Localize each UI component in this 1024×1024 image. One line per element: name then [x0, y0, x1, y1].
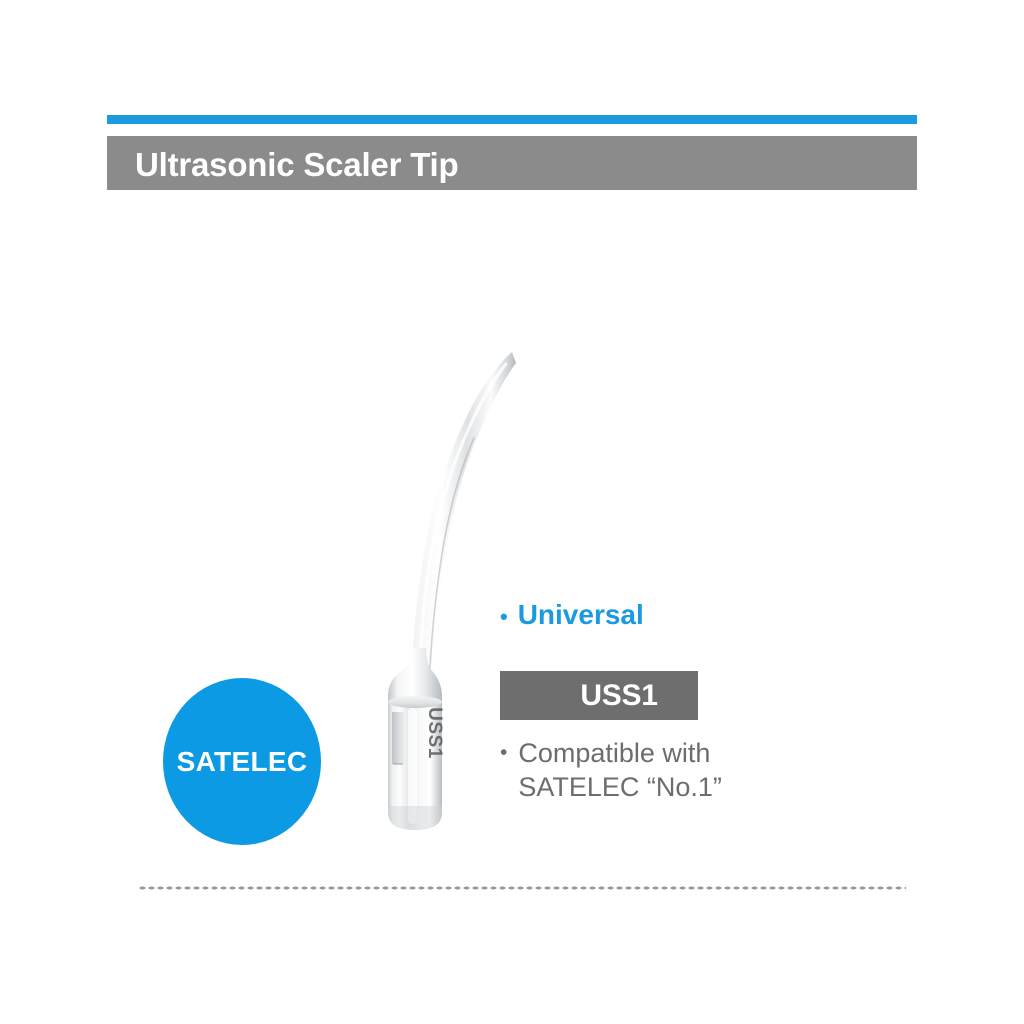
brand-badge: SATELEC	[163, 678, 321, 845]
footer-divider	[138, 886, 906, 890]
scaler-tip-engraving: USS1	[419, 703, 449, 763]
bullet-icon: •	[500, 736, 507, 770]
spec-feature-label: Universal	[518, 596, 644, 634]
model-number-band: USS1	[500, 671, 698, 720]
spec-panel: • Universal USS1 • Compatible with SATEL…	[500, 596, 900, 636]
brand-badge-label: SATELEC	[163, 678, 321, 845]
bullet-icon: •	[500, 598, 508, 636]
spec-compatibility-text: Compatible with SATELEC “No.1”	[518, 736, 722, 804]
spec-compatibility: • Compatible with SATELEC “No.1”	[500, 736, 840, 804]
product-spec-sheet: Ultrasonic Scaler Tip	[0, 0, 1024, 1024]
model-number-label: USS1	[500, 671, 698, 720]
header-accent-bar	[107, 115, 917, 124]
spec-feature-universal: • Universal	[500, 596, 900, 636]
page-title: Ultrasonic Scaler Tip	[135, 145, 835, 185]
scaler-key-slot	[392, 712, 404, 764]
scaler-shank-base-shadow	[388, 806, 442, 830]
